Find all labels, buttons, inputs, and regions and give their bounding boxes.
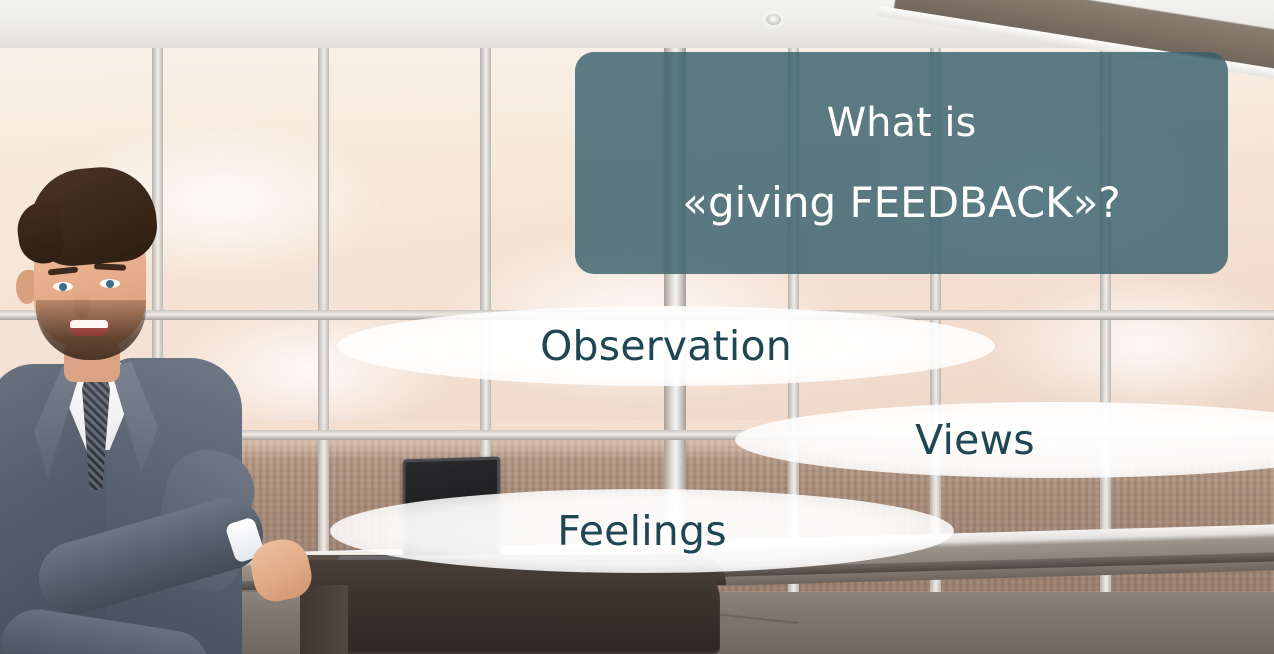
callout-ellipse-observation[interactable]: Observation — [337, 306, 995, 386]
callout-label-observation: Observation — [337, 322, 995, 370]
title-panel[interactable]: What is «giving FEEDBACK»? — [575, 52, 1228, 274]
callout-label-views: Views — [735, 416, 1274, 464]
businessman-photo — [0, 150, 350, 654]
callout-ellipse-feelings[interactable]: Feelings — [330, 489, 954, 573]
eye-left — [53, 282, 73, 291]
title-line-2: «giving FEEDBACK»? — [682, 178, 1120, 227]
callout-label-feelings: Feelings — [330, 507, 954, 555]
presentation-slide: Observation Views Feelings What is «givi… — [0, 0, 1274, 654]
teeth — [70, 320, 108, 328]
office-desk — [300, 560, 720, 654]
ceiling-downlight-icon — [766, 14, 781, 25]
smiling-mouth — [68, 320, 110, 336]
title-line-1: What is — [827, 100, 977, 146]
hair-sideburn — [14, 199, 66, 267]
eye-right — [100, 279, 120, 288]
